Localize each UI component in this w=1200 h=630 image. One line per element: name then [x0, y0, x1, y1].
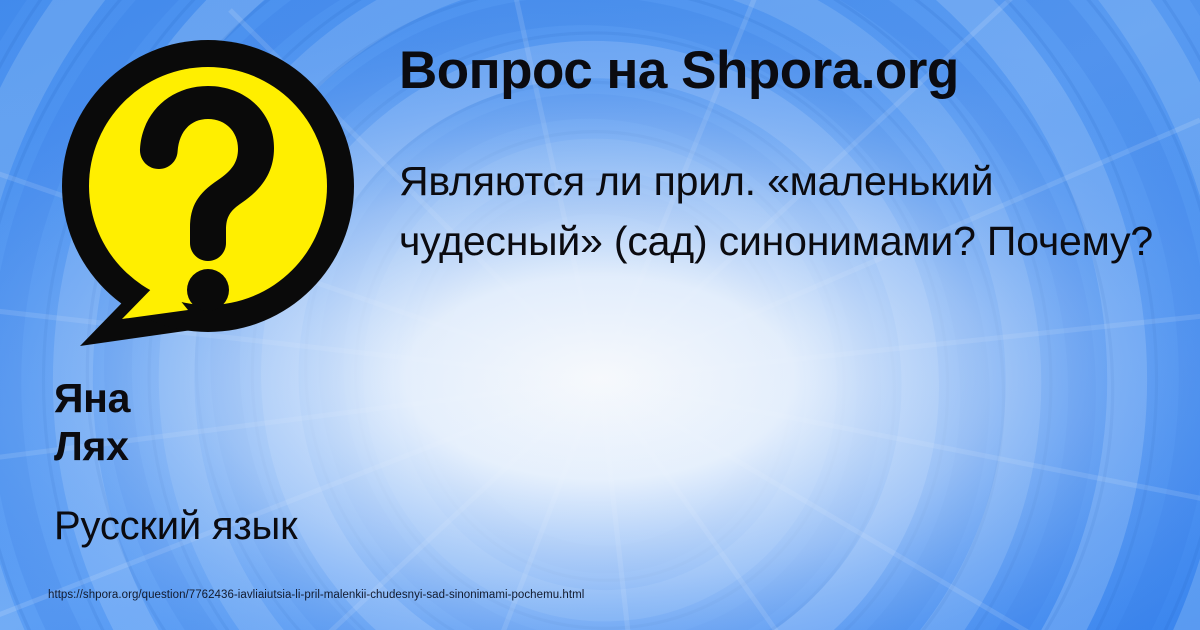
subject-label: Русский язык [54, 504, 474, 548]
question-icon-container [52, 38, 364, 358]
question-speech-bubble-icon [52, 38, 364, 358]
question-body-text: Являются ли прил. «маленький чудесный» (… [399, 152, 1199, 272]
author-name-line-1: Яна [54, 374, 384, 422]
author-name: Яна Лях [54, 374, 384, 471]
source-url-text[interactable]: https://shpora.org/question/7762436-iavl… [48, 589, 584, 601]
author-name-line-2: Лях [54, 422, 384, 470]
question-share-card: Вопрос на Shpora.org Являются ли прил. «… [0, 0, 1200, 630]
page-title: Вопрос на Shpora.org [399, 44, 1199, 97]
